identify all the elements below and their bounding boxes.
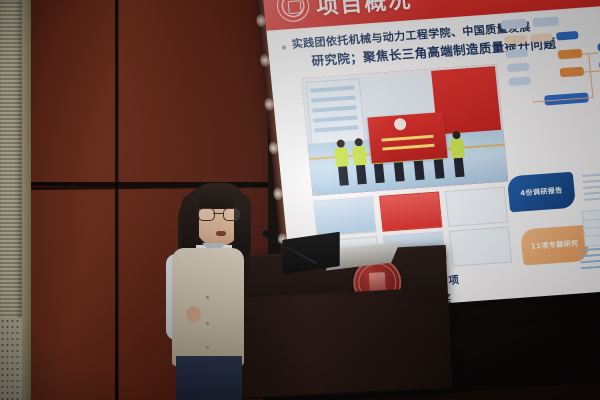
- thumbnail: [379, 192, 442, 232]
- bullet-point-icon: [282, 45, 286, 49]
- speaker-hand: [186, 306, 201, 322]
- flow-node: [532, 16, 559, 27]
- flow-node: [505, 49, 528, 59]
- slide-tab-studies: 11项专题研究: [520, 225, 589, 266]
- speaker-vest: [172, 248, 244, 366]
- slide-data-table: [581, 207, 600, 247]
- speaker-hair-right: [234, 195, 251, 257]
- speaker-trousers: [176, 356, 242, 400]
- slide-small-text-lines: [579, 245, 600, 271]
- photo-red-banner: [367, 112, 447, 163]
- flow-node: [559, 67, 584, 78]
- flow-node: [504, 35, 527, 45]
- university-seal-icon: [276, 0, 311, 23]
- slide-text-block: [582, 171, 600, 205]
- slide-group-photo: [301, 64, 508, 196]
- slide-flowchart: [499, 12, 600, 170]
- flow-node: [507, 63, 530, 73]
- flow-node: [530, 33, 553, 43]
- flow-node: [508, 77, 531, 87]
- flow-connector: [584, 70, 600, 72]
- slide-tab-reports: 4份调研报告: [507, 172, 576, 213]
- thumbnail: [449, 227, 512, 267]
- thumbnail: [313, 196, 376, 236]
- banner-seal-icon: [394, 118, 407, 131]
- acoustic-edge-trim: [22, 0, 31, 400]
- speaker-mouth: [216, 231, 226, 236]
- perforated-acoustic-panel: [0, 318, 22, 400]
- flow-connector: [588, 54, 593, 98]
- flow-node: [556, 31, 579, 41]
- photo-info-board: [306, 78, 366, 146]
- flow-node: [558, 49, 583, 60]
- flow-connector: [582, 53, 598, 55]
- flow-node: [501, 19, 528, 30]
- thumbnail: [445, 187, 508, 227]
- presentation-scene: 项目概况 实践团依托机械与动力工程学院、中国质量发展 研究院；聚焦长三角高端制造…: [0, 0, 600, 400]
- eyeglasses-icon: [198, 208, 240, 220]
- slide-title: 项目概况: [315, 0, 414, 21]
